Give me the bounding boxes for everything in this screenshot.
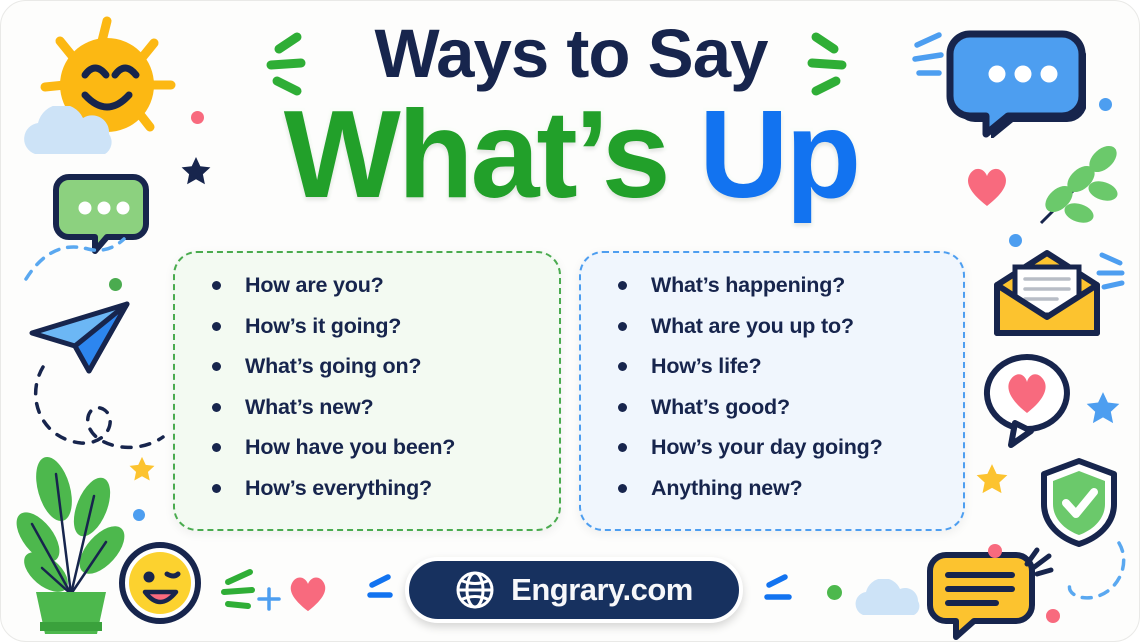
list-item: How’s life? bbox=[615, 356, 943, 378]
navy-dashes bbox=[1019, 546, 1055, 580]
yellow-envelope-icon bbox=[989, 249, 1105, 341]
green-dot bbox=[827, 585, 842, 600]
blue-plus-icon bbox=[256, 586, 282, 612]
page-title-highlight-green: What’s bbox=[284, 86, 668, 224]
blue-dot bbox=[133, 509, 145, 521]
yellow-star-icon bbox=[976, 463, 1008, 495]
brand-pill[interactable]: Engrary.com bbox=[405, 557, 743, 623]
potted-plant-icon bbox=[16, 444, 128, 634]
blue-rays-2 bbox=[1096, 249, 1132, 291]
page-title-line1: Ways to Say bbox=[1, 19, 1140, 88]
phrase-list-left: How are you? How’s it going? What’s goin… bbox=[173, 251, 561, 531]
list-item: What are you up to? bbox=[615, 316, 943, 338]
heart-speech-bubble-icon bbox=[979, 351, 1075, 451]
green-dot bbox=[109, 278, 122, 291]
blue-dashes bbox=[763, 573, 793, 605]
light-blue-cloud-icon bbox=[853, 579, 923, 619]
list-item: How are you? bbox=[209, 275, 539, 297]
globe-icon bbox=[455, 570, 495, 610]
blue-star-icon bbox=[1086, 391, 1120, 425]
list-item: What’s new? bbox=[209, 397, 539, 419]
phrase-list-left-items: How are you? How’s it going? What’s goin… bbox=[209, 275, 539, 499]
pink-heart-icon bbox=[286, 573, 330, 613]
blue-dashes bbox=[364, 573, 394, 605]
list-item: How have you been? bbox=[209, 437, 539, 459]
green-sparkle-burst bbox=[216, 566, 258, 612]
phrase-list-right: What’s happening? What are you up to? Ho… bbox=[579, 251, 965, 531]
green-shield-check-icon bbox=[1038, 456, 1120, 548]
yellow-star-icon bbox=[129, 456, 155, 482]
brand-label: Engrary.com bbox=[511, 572, 693, 608]
phrase-list-right-items: What’s happening? What are you up to? Ho… bbox=[615, 275, 943, 499]
list-item: How’s your day going? bbox=[615, 437, 943, 459]
page-title-highlight-blue: Up bbox=[699, 86, 858, 224]
list-item: How’s it going? bbox=[209, 316, 539, 338]
list-item: What’s going on? bbox=[209, 356, 539, 378]
poster-canvas: Ways to Say What’s Up How are you? How’s… bbox=[0, 0, 1140, 642]
list-item: What’s happening? bbox=[615, 275, 943, 297]
list-item: What’s good? bbox=[615, 397, 943, 419]
pink-dot bbox=[988, 544, 1002, 558]
winking-emoji-icon bbox=[118, 541, 202, 625]
blue-dot bbox=[1009, 234, 1022, 247]
dashed-loop-right bbox=[1061, 539, 1131, 614]
pink-dot bbox=[1046, 609, 1060, 623]
list-item: Anything new? bbox=[615, 478, 943, 500]
page-title-line2: What’s Up bbox=[1, 93, 1140, 217]
list-item: How’s everything? bbox=[209, 478, 539, 500]
